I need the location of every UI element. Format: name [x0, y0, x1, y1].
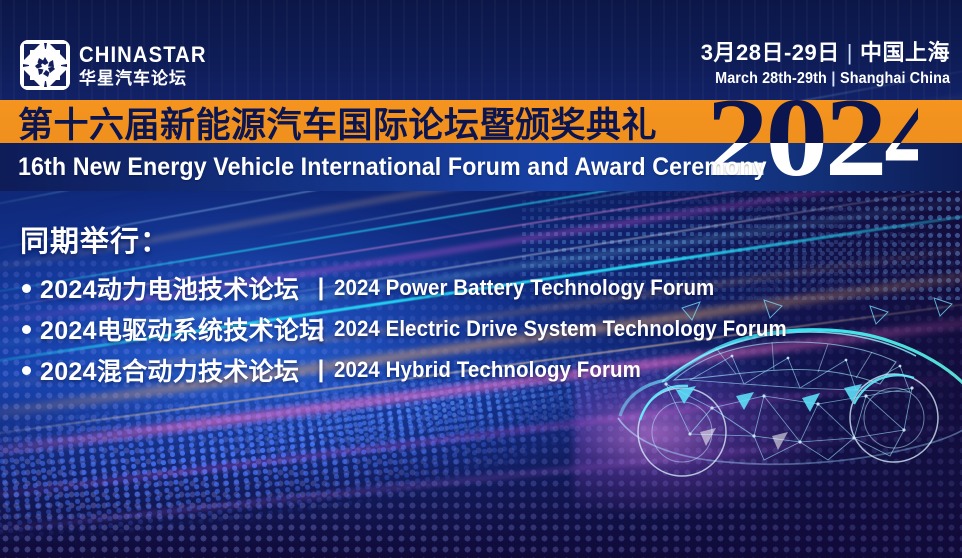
forum-name-cn: 2024电驱动系统技术论坛 — [40, 311, 308, 347]
list-item: 2024电驱动系统技术论坛 | 2024 Electric Drive Syst… — [20, 311, 821, 347]
list-item: 2024混合动力技术论坛 | 2024 Hybrid Technology Fo… — [20, 352, 821, 388]
bullet-icon — [22, 284, 31, 293]
page-title-cn: 第十六届新能源汽车国际论坛暨颁奖典礼 — [18, 101, 657, 143]
location-cn: 中国上海 — [860, 40, 950, 65]
forum-name-en: 2024 Hybrid Technology Forum — [334, 357, 641, 383]
agenda-heading: 同期举行： — [20, 218, 821, 260]
year-glyph-top: 2024 — [706, 82, 918, 143]
date-cn: 3月28日-29日 — [701, 40, 840, 65]
page-title-en: 16th New Energy Vehicle International Fo… — [18, 144, 767, 190]
logo-name-cn: 华星汽车论坛 — [79, 70, 218, 87]
event-date-location: 3月28日-29日|中国上海 March 28th-29th|Shanghai … — [689, 42, 950, 87]
chinastar-star-emblem-icon — [20, 40, 70, 90]
date-separator-cn: | — [840, 40, 860, 65]
event-banner: CHINASTAR 华星汽车论坛 3月28日-29日|中国上海 March 28… — [0, 0, 962, 558]
list-item: 2024动力电池技术论坛 | 2024 Power Battery Techno… — [20, 270, 821, 306]
year-numeral-top-half: 2024 — [706, 82, 918, 143]
bullet-icon — [22, 325, 31, 334]
forum-separator: | — [308, 315, 334, 343]
logo-name-en: CHINASTAR — [79, 44, 207, 66]
logo-text: CHINASTAR 华星汽车论坛 — [79, 44, 218, 87]
concurrent-forums-list: 同期举行： 2024动力电池技术论坛 | 2024 Power Battery … — [20, 218, 821, 393]
forum-name-en: 2024 Power Battery Technology Forum — [334, 275, 714, 301]
forum-name-cn: 2024混合动力技术论坛 — [40, 352, 308, 388]
forum-name-cn: 2024动力电池技术论坛 — [40, 270, 308, 306]
chinastar-logo: CHINASTAR 华星汽车论坛 — [20, 40, 218, 90]
forum-name-en: 2024 Electric Drive System Technology Fo… — [334, 316, 787, 342]
bullet-icon — [22, 366, 31, 375]
forum-separator: | — [308, 274, 334, 302]
date-location-cn: 3月28日-29日|中国上海 — [689, 42, 950, 64]
forum-separator: | — [308, 356, 334, 384]
